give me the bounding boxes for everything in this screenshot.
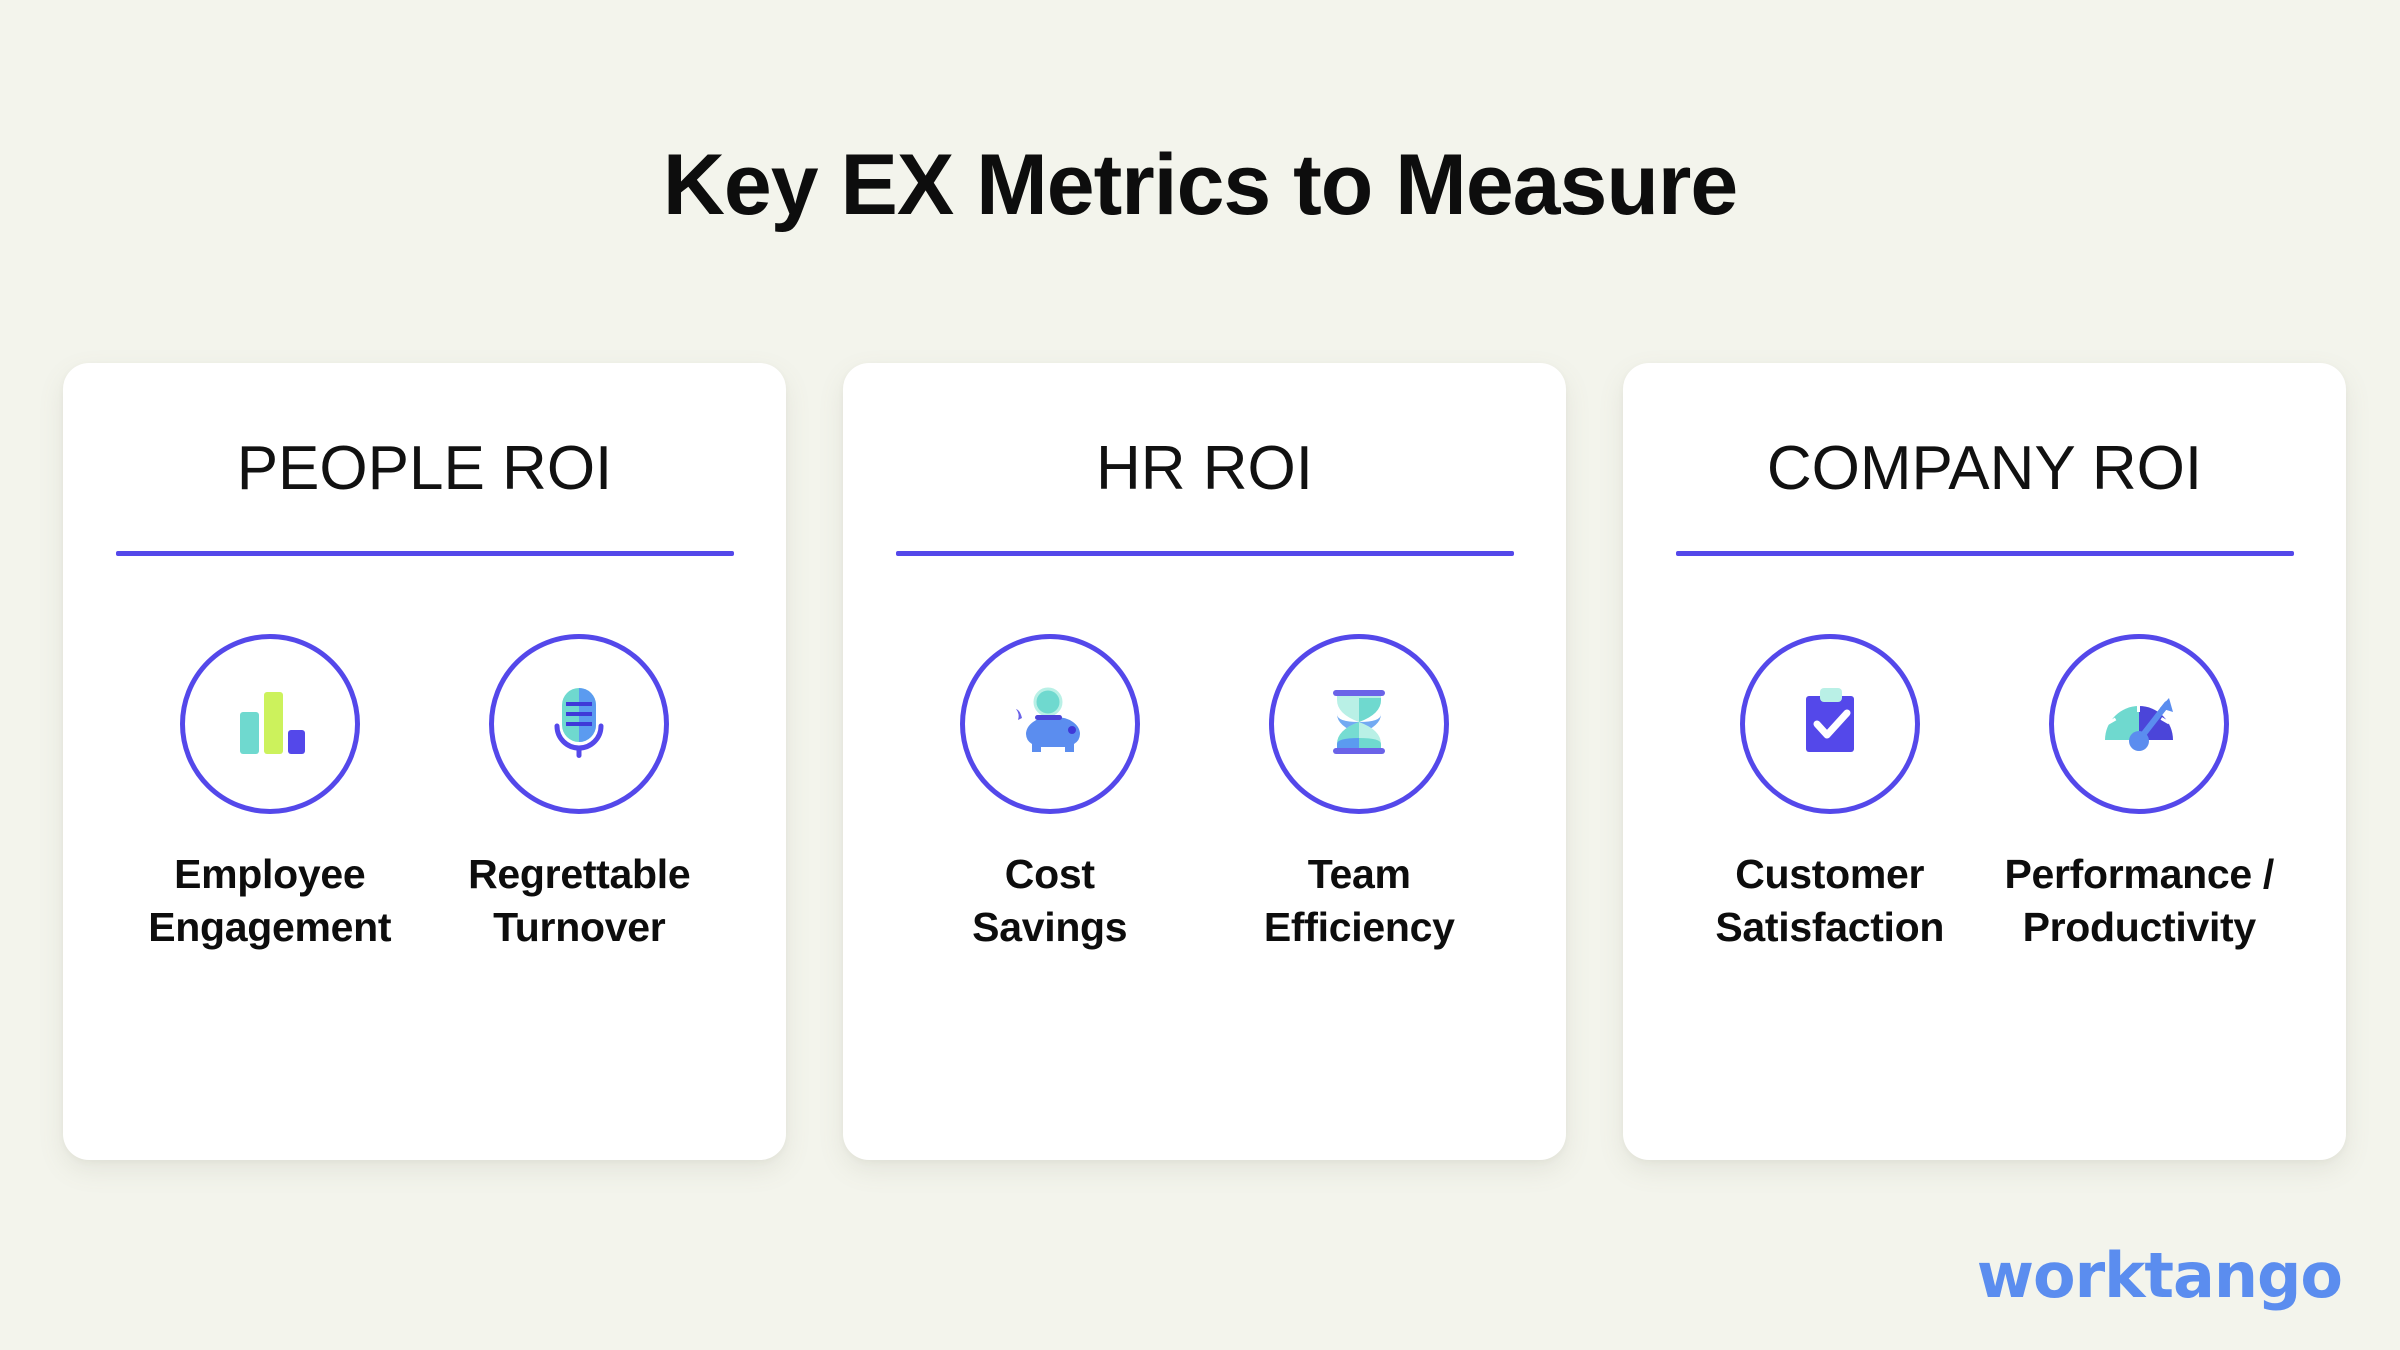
icon-circle bbox=[1740, 634, 1920, 814]
metric-label-line2: Turnover bbox=[493, 904, 665, 950]
metric-label-line1: Cost bbox=[1005, 851, 1095, 897]
metric-label-line2: Savings bbox=[972, 904, 1127, 950]
metrics-list: Cost Savings bbox=[895, 634, 1514, 953]
card-hr-roi: HR ROI bbox=[843, 363, 1566, 1160]
worktango-logo: worktango bbox=[1977, 1239, 2342, 1312]
speedometer-icon bbox=[2091, 674, 2187, 775]
metric-label: Team Efficiency bbox=[1264, 848, 1455, 953]
clipboard-check-icon bbox=[1782, 674, 1878, 775]
metric-label-line1: Employee bbox=[174, 851, 365, 897]
page-title: Key EX Metrics to Measure bbox=[0, 140, 2400, 230]
metric-label: Performance / Productivity bbox=[2004, 848, 2274, 953]
metric-item: Performance / Productivity bbox=[1985, 634, 2295, 953]
card-company-roi: COMPANY ROI Customer bbox=[1623, 363, 2346, 1160]
metric-label-line1: Customer bbox=[1735, 851, 1924, 897]
icon-circle bbox=[489, 634, 669, 814]
metric-item: Team Efficiency bbox=[1205, 634, 1515, 953]
card-divider bbox=[116, 551, 734, 556]
metric-label-line1: Team bbox=[1308, 851, 1411, 897]
card-divider bbox=[896, 551, 1514, 556]
bar-chart-icon bbox=[222, 674, 318, 775]
metric-item: Cost Savings bbox=[895, 634, 1205, 953]
card-title: PEOPLE ROI bbox=[115, 435, 734, 503]
metric-label-line1: Regrettable bbox=[468, 851, 690, 897]
icon-circle bbox=[180, 634, 360, 814]
metrics-list: Employee Engagement bbox=[115, 634, 734, 953]
metric-label-line2: Engagement bbox=[148, 904, 391, 950]
piggy-bank-icon bbox=[1002, 674, 1098, 775]
card-title: COMPANY ROI bbox=[1675, 435, 2294, 503]
metrics-list: Customer Satisfaction bbox=[1675, 634, 2294, 953]
metric-label-line2: Efficiency bbox=[1264, 904, 1455, 950]
metric-label: Cost Savings bbox=[972, 848, 1127, 953]
icon-circle bbox=[2049, 634, 2229, 814]
card-divider bbox=[1676, 551, 2294, 556]
metric-label-line1: Performance / bbox=[2004, 851, 2274, 897]
metric-item: Regrettable Turnover bbox=[425, 634, 735, 953]
metric-label-line2: Satisfaction bbox=[1715, 904, 1944, 950]
metric-label: Regrettable Turnover bbox=[468, 848, 690, 953]
icon-circle bbox=[1269, 634, 1449, 814]
metric-label: Employee Engagement bbox=[148, 848, 391, 953]
hourglass-icon bbox=[1311, 674, 1407, 775]
roi-cards-row: PEOPLE ROI Employee bbox=[63, 363, 2346, 1160]
metric-item: Employee Engagement bbox=[115, 634, 425, 953]
metric-label: Customer Satisfaction bbox=[1715, 848, 1944, 953]
metric-item: Customer Satisfaction bbox=[1675, 634, 1985, 953]
icon-circle bbox=[960, 634, 1140, 814]
card-title: HR ROI bbox=[895, 435, 1514, 503]
metric-label-line2: Productivity bbox=[2023, 904, 2256, 950]
microphone-icon bbox=[531, 674, 627, 775]
card-people-roi: PEOPLE ROI Employee bbox=[63, 363, 786, 1160]
infographic-page: Key EX Metrics to Measure PEOPLE ROI bbox=[0, 0, 2400, 1350]
